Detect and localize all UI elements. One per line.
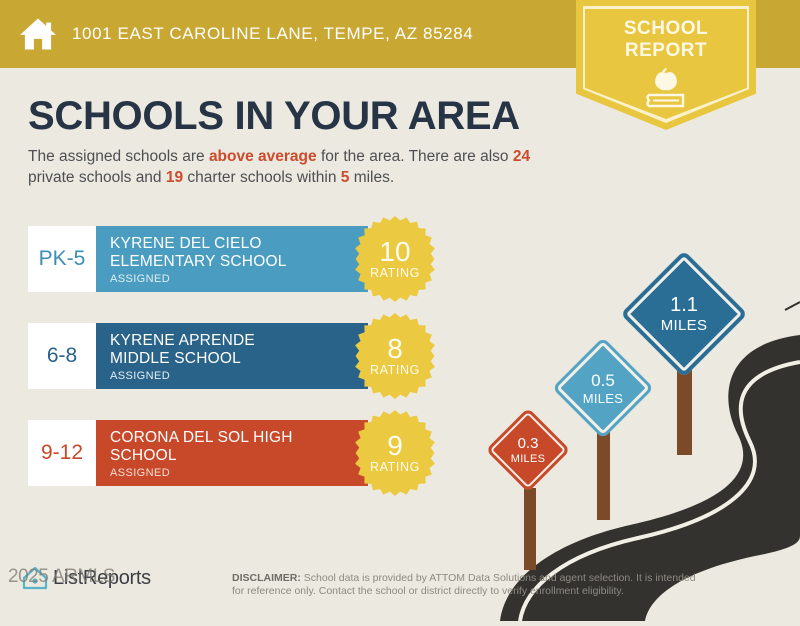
sign-post-2 xyxy=(597,432,610,520)
badge-title: SCHOOL REPORT xyxy=(576,0,756,62)
summary-part1: The assigned schools are xyxy=(28,148,209,165)
apple-leaf-icon xyxy=(662,68,667,72)
school-row[interactable]: 6-8 KYRENE APRENDE MIDDLE SCHOOL ASSIGNE… xyxy=(28,323,368,389)
school-rating-badge: 8 RATING xyxy=(352,313,438,399)
rating-value: 10 xyxy=(379,239,410,265)
summary-part3: private schools and xyxy=(28,169,166,186)
rating-value: 9 xyxy=(387,433,403,459)
school-info-bar: KYRENE APRENDE MIDDLE SCHOOL ASSIGNED xyxy=(96,323,368,389)
badge-title-line1: SCHOOL xyxy=(576,18,756,40)
school-status: ASSIGNED xyxy=(110,370,358,382)
summary-text: The assigned schools are above average f… xyxy=(28,146,558,188)
rating-value: 8 xyxy=(387,336,403,362)
school-status: ASSIGNED xyxy=(110,467,358,479)
road-scene: 1.1 MILES 0.5 MILES 0.3 MILES xyxy=(470,250,800,621)
school-row[interactable]: 9-12 CORONA DEL SOL HIGH SCHOOL ASSIGNED xyxy=(28,420,368,486)
disclaimer: DISCLAIMER: School data is provided by A… xyxy=(232,572,702,598)
apple-book-icons xyxy=(636,66,696,112)
summary-highlight-private-count: 24 xyxy=(513,148,530,165)
school-name-line1: KYRENE APRENDE xyxy=(110,332,358,350)
badge-title-line2: REPORT xyxy=(576,40,756,62)
school-rating-badge: 10 RATING xyxy=(352,216,438,302)
school-rating-badge: 9 RATING xyxy=(352,410,438,496)
apple-icon xyxy=(655,72,677,90)
school-info-bar: KYRENE DEL CIELO ELEMENTARY SCHOOL ASSIG… xyxy=(96,226,368,292)
disclaimer-label: DISCLAIMER: xyxy=(232,572,301,584)
summary-part5: miles. xyxy=(349,169,394,186)
sign-diamond-1 xyxy=(486,408,571,493)
school-row[interactable]: PK-5 KYRENE DEL CIELO ELEMENTARY SCHOOL … xyxy=(28,226,368,292)
rating-caption: RATING xyxy=(370,266,420,280)
road-horizon-line xyxy=(785,302,800,310)
school-name-line2: ELEMENTARY SCHOOL xyxy=(110,253,358,271)
disclaimer-text: School data is provided by ATTOM Data So… xyxy=(232,572,696,597)
school-name-line1: CORONA DEL SOL HIGH xyxy=(110,429,358,447)
school-name-line2: SCHOOL xyxy=(110,447,358,465)
school-info-bar: CORONA DEL SOL HIGH SCHOOL ASSIGNED xyxy=(96,420,368,486)
school-report-badge: SCHOOL REPORT xyxy=(576,0,756,130)
summary-highlight-charter-count: 19 xyxy=(166,169,183,186)
rating-caption: RATING xyxy=(370,363,420,377)
school-name-line1: KYRENE DEL CIELO xyxy=(110,235,358,253)
school-grade-range: 9-12 xyxy=(28,420,96,486)
school-grade-range: 6-8 xyxy=(28,323,96,389)
school-status: ASSIGNED xyxy=(110,273,358,285)
page-title: SCHOOLS IN YOUR AREA xyxy=(28,94,520,139)
summary-part4: charter schools within xyxy=(183,169,341,186)
rating-caption: RATING xyxy=(370,460,420,474)
home-icon xyxy=(18,16,58,52)
sign-post-1 xyxy=(524,488,536,570)
summary-part2: for the area. There are also xyxy=(317,148,513,165)
summary-highlight-rating: above average xyxy=(209,148,317,165)
school-grade-range: PK-5 xyxy=(28,226,96,292)
mls-watermark: 2025 ARMLS xyxy=(8,566,115,588)
distance-sign-1: 0.3 MILES xyxy=(488,410,578,570)
school-name-line2: MIDDLE SCHOOL xyxy=(110,350,358,368)
property-address: 1001 EAST CAROLINE LANE, TEMPE, AZ 85284 xyxy=(72,24,473,44)
